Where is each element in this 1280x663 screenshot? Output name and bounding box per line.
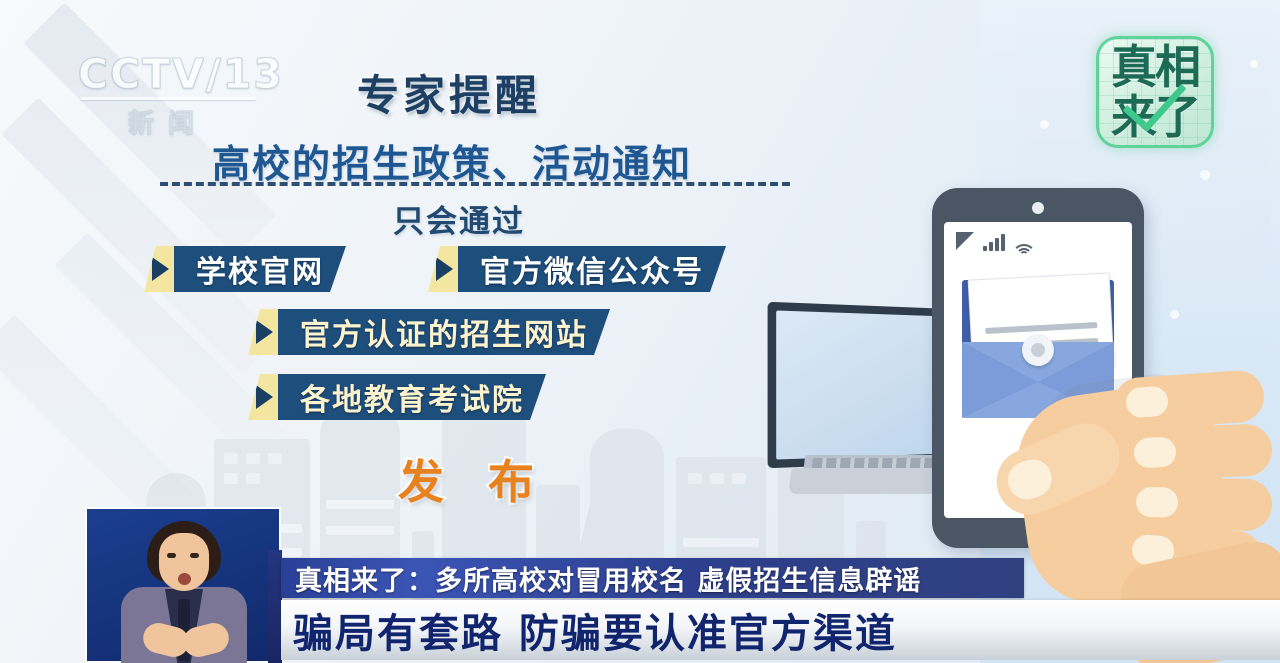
cctv-logo-letters: CCTV/13	[78, 52, 258, 96]
play-arrow-icon	[256, 385, 273, 409]
banner-body: 各地教育考试院	[278, 374, 546, 420]
wifi-icon	[1014, 236, 1034, 251]
phone-camera-icon	[1032, 202, 1044, 214]
banner-body: 官方微信公众号	[458, 246, 726, 292]
interpreter-face	[159, 533, 209, 591]
only-via-label: 只会通过	[393, 196, 525, 241]
sign-language-interpreter	[85, 507, 281, 663]
banner-label: 官方认证的招生网站	[300, 310, 588, 354]
hand-holding-phone	[1004, 320, 1280, 620]
play-arrow-icon	[436, 257, 453, 281]
lower-third-headline-bar: 骗局有套路 防骗要认准官方渠道	[281, 600, 1280, 660]
publish-label: 发 布	[398, 446, 548, 512]
banner-label: 官方微信公众号	[480, 247, 704, 291]
dashed-divider	[160, 182, 790, 186]
play-arrow-icon	[256, 320, 273, 344]
policy-subtitle: 高校的招生政策、活动通知	[212, 133, 692, 188]
truth-program-logo: 真相来了	[1096, 36, 1214, 148]
banner-body: 学校官网	[174, 246, 346, 292]
finger-middle	[1121, 423, 1273, 480]
lower-third-headline-text: 骗局有套路 防骗要认准官方渠道	[293, 601, 897, 659]
banner-label: 各地教育考试院	[300, 375, 524, 419]
lower-third-topic-text: 真相来了：多所高校对冒用校名 虚假招生信息辟谣	[295, 559, 921, 598]
finger-ring	[1124, 477, 1273, 532]
interpreter-eye-left	[167, 553, 176, 558]
cctv-channel-logo: CCTV/13 新闻	[78, 52, 258, 134]
interpreter-eye-right	[190, 553, 199, 558]
channel-banner-exam-authority: 各地教育考试院	[248, 374, 546, 420]
banner-tab	[248, 374, 278, 420]
device-illustration	[760, 170, 1280, 600]
banner-body: 官方认证的招生网站	[278, 309, 610, 355]
banner-label: 学校官网	[196, 247, 324, 291]
channel-banner-certified-site: 官方认证的招生网站	[248, 309, 610, 355]
expert-tip-title: 专家提醒	[357, 62, 541, 123]
finger-index	[1112, 369, 1265, 431]
interpreter-mouth	[178, 573, 191, 585]
signal-triangle-icon	[956, 232, 974, 250]
banner-tab	[248, 309, 278, 355]
phone-status-bar	[956, 232, 1034, 251]
banner-tab	[428, 246, 458, 292]
channel-banner-school: 学校官网	[144, 246, 346, 292]
play-arrow-icon	[152, 257, 169, 281]
channel-banner-wechat: 官方微信公众号	[428, 246, 726, 292]
lower-third-left-edge	[268, 550, 282, 663]
banner-tab	[144, 246, 174, 292]
signal-bars-icon	[983, 234, 1005, 251]
broadcast-frame: CCTV/13 新闻 真相来了 专家提醒 高校的招生政策、活动通知 只会通过 学…	[0, 0, 1280, 663]
lower-third-topic-bar: 真相来了：多所高校对冒用校名 虚假招生信息辟谣	[281, 558, 1024, 598]
